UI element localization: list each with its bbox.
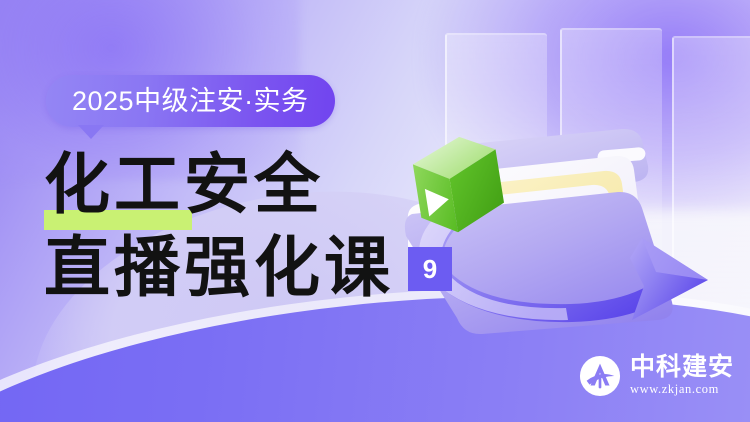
- logo-website-url: www.zkjan.com: [630, 382, 734, 398]
- page-title: 化工安全 直播强化课 9: [44, 152, 464, 303]
- banner-text-content: 2025中级注安·实务 化工安全 直播强化课 9: [0, 0, 470, 422]
- logo-mark-icon: [579, 355, 621, 397]
- badge-label: 2025中级注安·实务: [72, 88, 309, 115]
- course-promo-banner: 2025中级注安·实务 化工安全 直播强化课 9 中科建安 www.zkjan.…: [0, 0, 750, 422]
- episode-number-badge: 9: [408, 247, 452, 291]
- course-category-badge: 2025中级注安·实务: [46, 75, 335, 127]
- badge-tail-icon: [78, 125, 104, 139]
- logo-text-group: 中科建安 www.zkjan.com: [630, 354, 734, 398]
- brand-logo[interactable]: 中科建安 www.zkjan.com: [579, 354, 734, 398]
- badge-pill: 2025中级注安·实务: [46, 75, 335, 127]
- title-line-2-text: 直播强化课: [44, 235, 394, 304]
- title-line-2: 直播强化课 9: [44, 235, 464, 304]
- title-line-1-text: 化工安全: [44, 149, 324, 222]
- title-line-1: 化工安全: [44, 152, 464, 221]
- logo-brand-name: 中科建安: [630, 354, 734, 382]
